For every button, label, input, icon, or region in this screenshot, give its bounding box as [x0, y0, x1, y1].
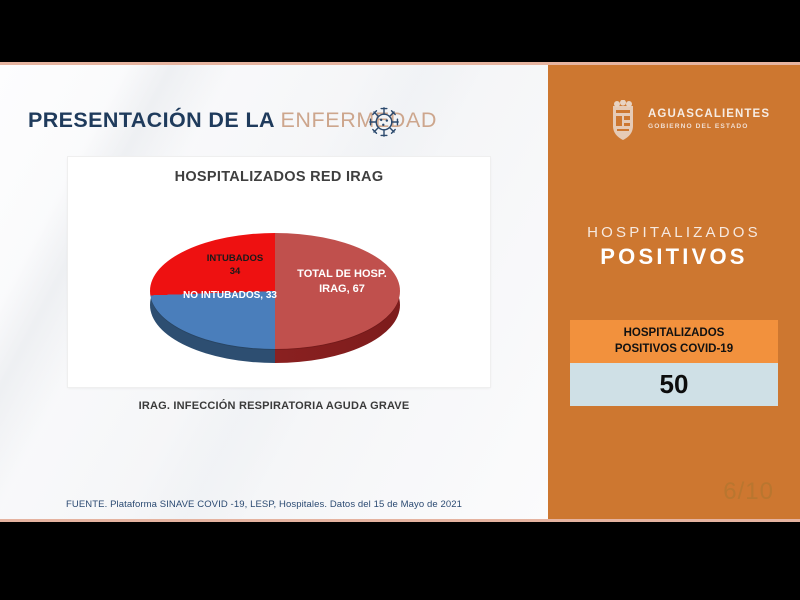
chart-card: HOSPITALIZADOS RED IRAG INTUBADOS 34 NO …	[68, 157, 490, 387]
coronavirus-icon	[367, 105, 401, 139]
page-title-bold: PRESENTACIÓN DE LA	[28, 108, 280, 132]
stat-card-value: 50	[660, 369, 689, 400]
page-number: 6/10	[723, 478, 774, 506]
slide-left-content: PRESENTACIÓN DE LA ENFERMEDAD	[0, 62, 548, 522]
government-logo-text: AGUASCALIENTES GOBIERNO DEL ESTADO	[648, 108, 770, 130]
pie-slice-label-intubados: INTUBADOS 34	[180, 253, 290, 278]
aguascalientes-coat-of-arms-icon	[606, 100, 640, 142]
irag-definition-note: IRAG. INFECCIÓN RESPIRATORIA AGUDA GRAVE	[0, 400, 548, 412]
stat-label-line2: POSITIVOS COVID-19	[615, 343, 733, 355]
pie-slice-label-total: TOTAL DE HOSP. IRAG, 67	[286, 267, 398, 296]
panel-heading: HOSPITALIZADOS POSITIVOS	[548, 224, 800, 270]
government-logo: AGUASCALIENTES GOBIERNO DEL ESTADO	[606, 100, 756, 142]
pie-chart: INTUBADOS 34 NO INTUBADOS, 33 TOTAL DE H…	[118, 205, 438, 377]
pie-slice-label-no-intubados: NO INTUBADOS, 33	[166, 289, 294, 302]
gov-subtitle: GOBIERNO DEL ESTADO	[648, 123, 770, 130]
stat-card-header: HOSPITALIZADOSPOSITIVOS COVID-19	[570, 320, 778, 363]
presentation-slide: PRESENTACIÓN DE LA ENFERMEDAD	[0, 62, 800, 522]
pie-label-intubados-name: INTUBADOS	[207, 253, 263, 264]
stat-card-label: HOSPITALIZADOSPOSITIVOS COVID-19	[615, 326, 733, 356]
stat-card: HOSPITALIZADOSPOSITIVOS COVID-19 50	[570, 320, 778, 406]
stat-label-line1: HOSPITALIZADOS	[624, 327, 725, 339]
panel-heading-light: HOSPITALIZADOS	[548, 224, 800, 241]
gov-name: AGUASCALIENTES	[648, 108, 770, 121]
source-note: FUENTE. Plataforma SINAVE COVID -19, LES…	[66, 499, 462, 510]
orange-side-panel: AGUASCALIENTES GOBIERNO DEL ESTADO HOSPI…	[548, 62, 800, 522]
pie-label-intubados-value: 34	[230, 266, 241, 277]
stat-card-value-area: 50	[570, 363, 778, 406]
chart-title: HOSPITALIZADOS RED IRAG	[68, 169, 490, 185]
page-title-light: ENFERMEDAD	[280, 108, 437, 132]
screenshot-stage: PRESENTACIÓN DE LA ENFERMEDAD	[0, 0, 800, 600]
panel-heading-bold: POSITIVOS	[548, 244, 800, 270]
